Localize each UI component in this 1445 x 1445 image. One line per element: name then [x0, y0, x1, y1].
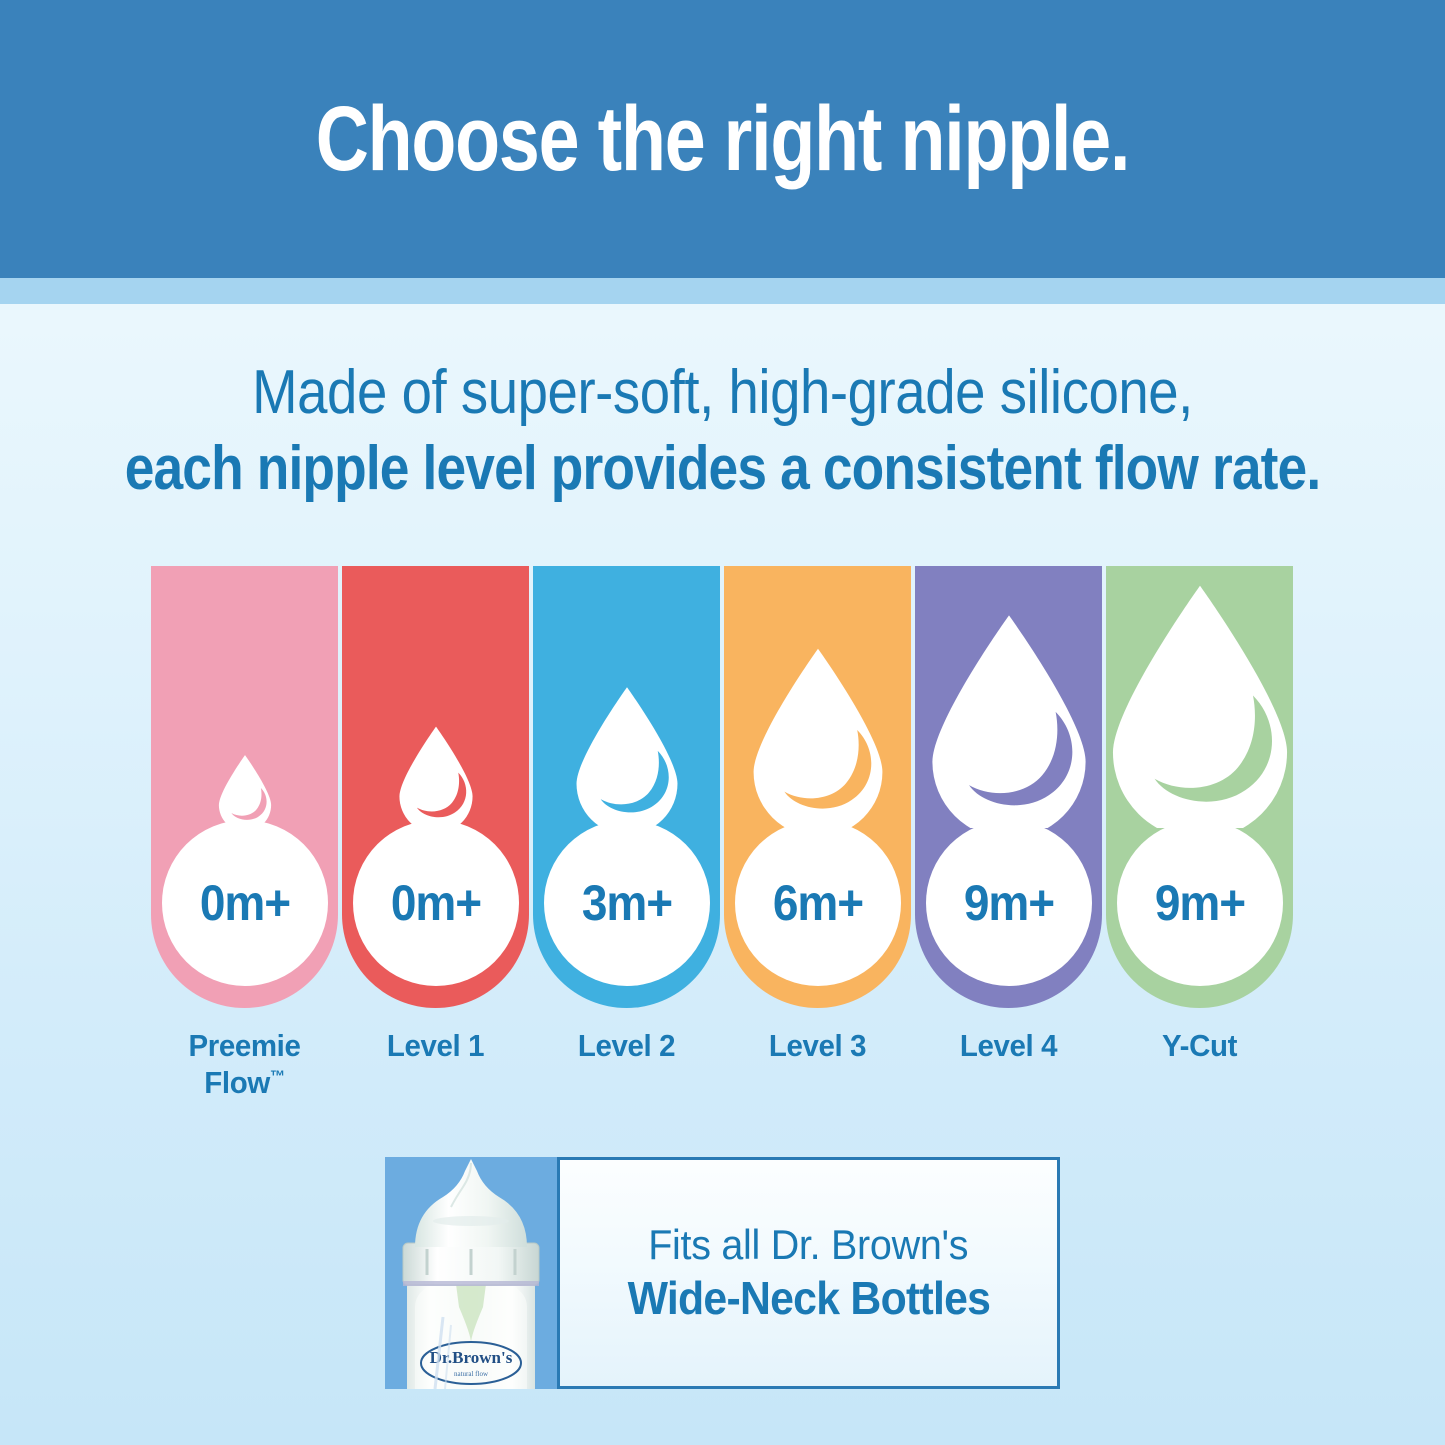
nipple-level-label-text: Level 2: [578, 1028, 675, 1063]
svg-text:natural flow: natural flow: [454, 1370, 489, 1378]
age-badge: 0m+: [353, 820, 519, 986]
baby-bottle-icon: Dr.Brown's natural flow: [385, 1157, 557, 1389]
water-drop-icon: [925, 612, 1092, 828]
fits-all-text-panel: Fits all Dr. Brown's Wide-Neck Bottles: [557, 1157, 1060, 1389]
bottle-photo-panel: Dr.Brown's natural flow: [385, 1157, 557, 1389]
nipple-level-label: Level 3: [729, 1028, 907, 1101]
nipple-level-label: Level 1: [347, 1028, 525, 1101]
age-badge: 0m+: [162, 820, 328, 986]
header-banner: Choose the right nipple.: [0, 0, 1445, 278]
svg-text:Dr.Brown's: Dr.Brown's: [430, 1348, 513, 1367]
nipple-level-column[interactable]: 3m+: [533, 566, 720, 1008]
nipple-level-label: Level 2: [538, 1028, 716, 1101]
nipple-level-column[interactable]: 0m+: [151, 566, 338, 1008]
water-drop-icon: [216, 754, 273, 828]
water-drop-icon: [572, 685, 682, 828]
subtitle-line-1: Made of super-soft, high-grade silicone,: [87, 360, 1359, 427]
age-badge: 6m+: [735, 820, 901, 986]
age-label: 9m+: [1154, 874, 1244, 932]
nipple-level-label-text: Preemie Flow: [189, 1028, 301, 1100]
infographic-page: Choose the right nipple. Made of super-s…: [0, 0, 1445, 1445]
nipple-level-column[interactable]: 0m+: [342, 566, 529, 1008]
age-label: 3m+: [581, 874, 671, 932]
nipple-level-label-text: Level 3: [769, 1028, 866, 1063]
water-drop-icon: [1105, 582, 1294, 828]
nipple-level-label: Preemie Flow™: [156, 1028, 334, 1101]
subtitle-line-2: each nipple level provides a consistent …: [101, 433, 1344, 504]
nipple-level-label: Y-Cut: [1111, 1028, 1289, 1101]
age-label: 0m+: [199, 874, 289, 932]
age-label: 9m+: [963, 874, 1053, 932]
age-badge: 3m+: [544, 820, 710, 986]
nipple-level-column[interactable]: 9m+: [1106, 566, 1293, 1008]
water-drop-icon: [396, 725, 476, 828]
header-accent-strip: [0, 278, 1445, 304]
nipple-level-label-text: Level 4: [960, 1028, 1057, 1063]
nipple-level-label-text: Y-Cut: [1162, 1028, 1237, 1063]
nipple-level-columns: 0m+0m+3m+6m+9m+9m+: [151, 566, 1293, 1008]
nipple-level-labels: Preemie Flow™Level 1Level 2Level 3Level …: [151, 1028, 1293, 1101]
fit-line-2: Wide-Neck Bottles: [627, 1272, 990, 1325]
water-drop-icon: [747, 646, 887, 828]
fit-line-1: Fits all Dr. Brown's: [648, 1221, 968, 1268]
age-label: 0m+: [390, 874, 480, 932]
trademark-symbol: ™: [270, 1068, 285, 1085]
subtitle-block: Made of super-soft, high-grade silicone,…: [0, 360, 1445, 504]
nipple-level-label-text: Level 1: [387, 1028, 484, 1063]
nipple-level-label: Level 4: [920, 1028, 1098, 1101]
age-badge: 9m+: [1117, 820, 1283, 986]
nipple-level-column[interactable]: 6m+: [724, 566, 911, 1008]
fits-all-bottles-box: Dr.Brown's natural flow Fits all Dr. Bro…: [385, 1157, 1060, 1389]
page-title: Choose the right nipple.: [316, 93, 1130, 185]
age-label: 6m+: [772, 874, 862, 932]
nipple-level-column[interactable]: 9m+: [915, 566, 1102, 1008]
age-badge: 9m+: [926, 820, 1092, 986]
